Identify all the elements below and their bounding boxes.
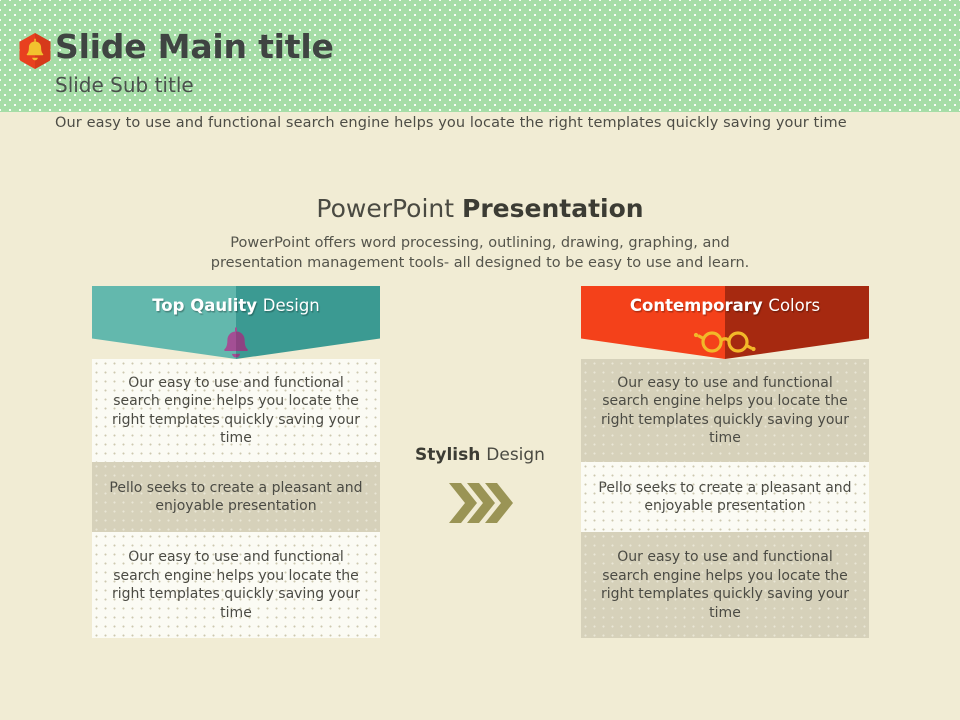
powerpoint-description-line-1: PowerPoint offers word processing, outli…: [0, 233, 960, 253]
card-banner-title-light: Colors: [768, 296, 820, 315]
card-banner-title: Contemporary Colors: [581, 296, 869, 315]
card-banner: Top Qaulity Design: [92, 286, 380, 359]
powerpoint-title-bold: Presentation: [462, 194, 644, 223]
slide-sub-title: Slide Sub title: [55, 70, 334, 100]
card-banner-title-bold: Contemporary: [630, 296, 769, 315]
powerpoint-description: PowerPoint offers word processing, outli…: [0, 233, 960, 273]
triple-chevron-right-icon: [396, 481, 564, 529]
powerpoint-title: PowerPoint Presentation: [0, 192, 960, 226]
card-banner-title-light: Design: [263, 296, 320, 315]
stylish-design-title: Stylish Design: [396, 443, 564, 467]
header-title-group: Slide Main title Slide Sub title: [55, 26, 334, 100]
bell-icon: [92, 326, 380, 359]
card-banner-title-bold: Top Qaulity: [152, 296, 263, 315]
card-contemporary-colors[interactable]: Contemporary Colors Our easy to use and …: [581, 286, 869, 645]
card-banner-title: Top Qaulity Design: [92, 296, 380, 315]
stylish-design-group: Stylish Design: [396, 443, 564, 529]
hexagon-bell-icon: [18, 32, 52, 70]
card-text-band: Our easy to use and functional search en…: [581, 532, 869, 638]
card-top-quality-design[interactable]: Top Qaulity Design Our easy to use and f…: [92, 286, 380, 645]
center-heading-group: PowerPoint Presentation PowerPoint offer…: [0, 192, 960, 273]
card-text-band: Pello seeks to create a pleasant and enj…: [92, 462, 380, 532]
card-text-band: Our easy to use and functional search en…: [92, 532, 380, 638]
eyeglasses-icon: [581, 326, 869, 359]
card-text-band: Our easy to use and functional search en…: [581, 359, 869, 462]
slide-main-title: Slide Main title: [55, 26, 334, 68]
stylish-design-title-light: Design: [486, 445, 545, 465]
card-text-band: Pello seeks to create a pleasant and enj…: [581, 462, 869, 532]
card-banner: Contemporary Colors: [581, 286, 869, 359]
stylish-design-title-bold: Stylish: [415, 445, 486, 465]
header-caption: Our easy to use and functional search en…: [55, 112, 847, 134]
card-text-band: Our easy to use and functional search en…: [92, 359, 380, 462]
powerpoint-title-light: PowerPoint: [316, 194, 462, 223]
powerpoint-description-line-2: presentation management tools- all desig…: [0, 253, 960, 273]
